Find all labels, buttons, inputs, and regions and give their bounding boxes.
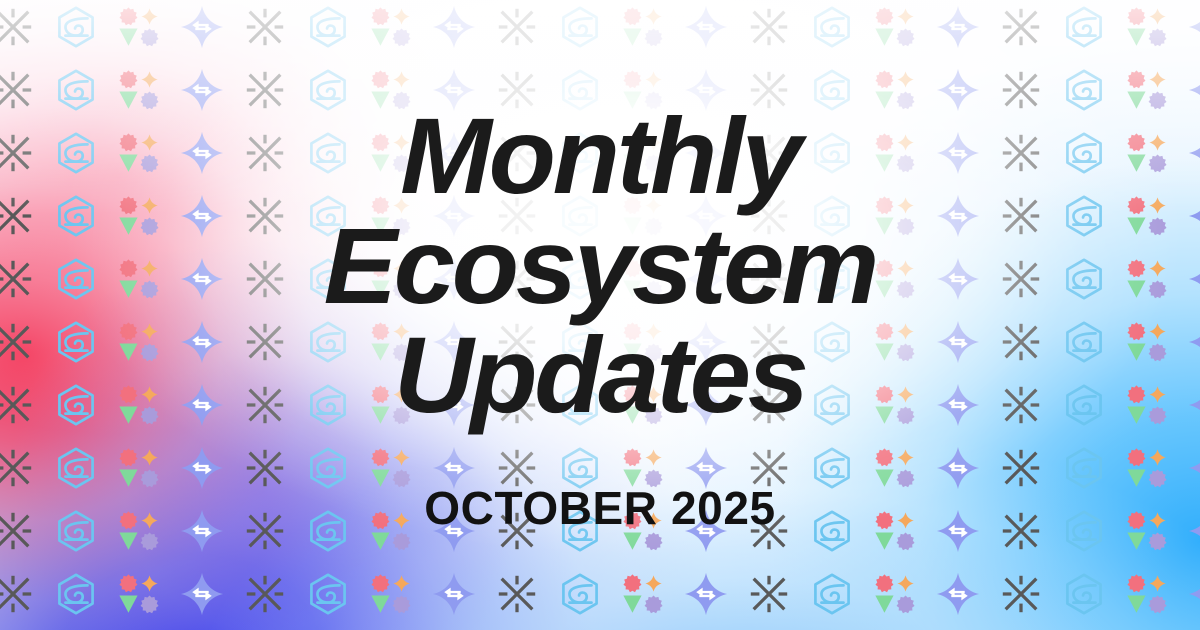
ecosystem-updates-banner: Monthly Ecosystem Updates OCTOBER 2025 [0,0,1200,630]
headline-block: Monthly Ecosystem Updates OCTOBER 2025 [0,0,1200,630]
page-title-line-1: Monthly [400,104,799,208]
page-title-line-3: Updates [394,323,806,427]
page-title-line-2: Ecosystem [324,214,876,318]
subtitle-date: OCTOBER 2025 [424,481,775,535]
